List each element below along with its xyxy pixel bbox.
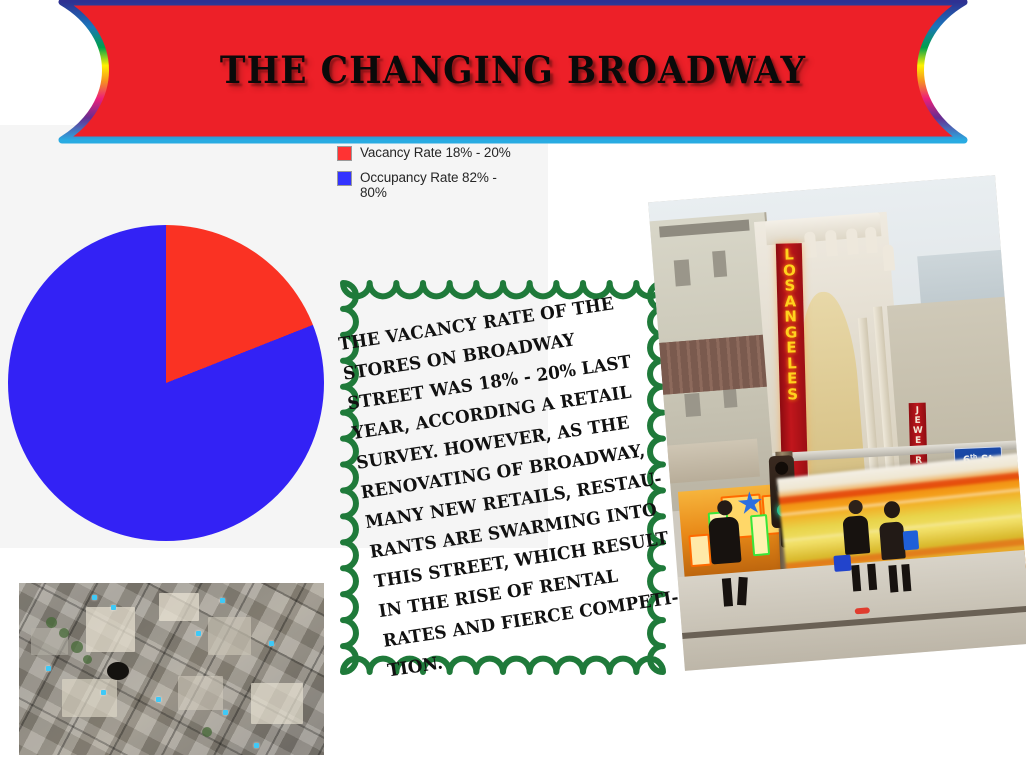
- scalloped-text-box: THE VACANCY RATE OF THE STORES ON BROADW…: [337, 277, 669, 678]
- chart-legend: Vacancy Rate 18% - 20% Occupancy Rate 82…: [337, 145, 537, 209]
- los-angeles-marquee-sign: LOSANGELES: [775, 243, 807, 479]
- title-banner: THE CHANGING BROADWAY: [0, 0, 1026, 148]
- textbox-body: THE VACANCY RATE OF THE STORES ON BROADW…: [337, 287, 676, 676]
- los-angeles-theatre-photo: LOSANGELES JEWELRYPLAZA 6th S: [648, 175, 1026, 671]
- downtown-aerial-map: [19, 583, 324, 755]
- legend-label-occupancy: Occupancy Rate 82% - 80%: [360, 170, 510, 200]
- legend-item-occupancy: Occupancy Rate 82% - 80%: [337, 170, 537, 200]
- poster-canvas: Vacancy Rate 18% - 20% Occupancy Rate 82…: [0, 0, 1026, 764]
- legend-swatch-occupancy: [337, 171, 352, 186]
- pie-chart: [8, 225, 328, 545]
- page-title: THE CHANGING BROADWAY: [36, 48, 990, 92]
- legend-swatch-vacancy: [337, 146, 352, 161]
- pie-slices: [8, 225, 324, 541]
- photo-scene: LOSANGELES JEWELRYPLAZA 6th S: [648, 175, 1026, 671]
- brick-band: [659, 334, 778, 395]
- stone-band: [667, 439, 760, 484]
